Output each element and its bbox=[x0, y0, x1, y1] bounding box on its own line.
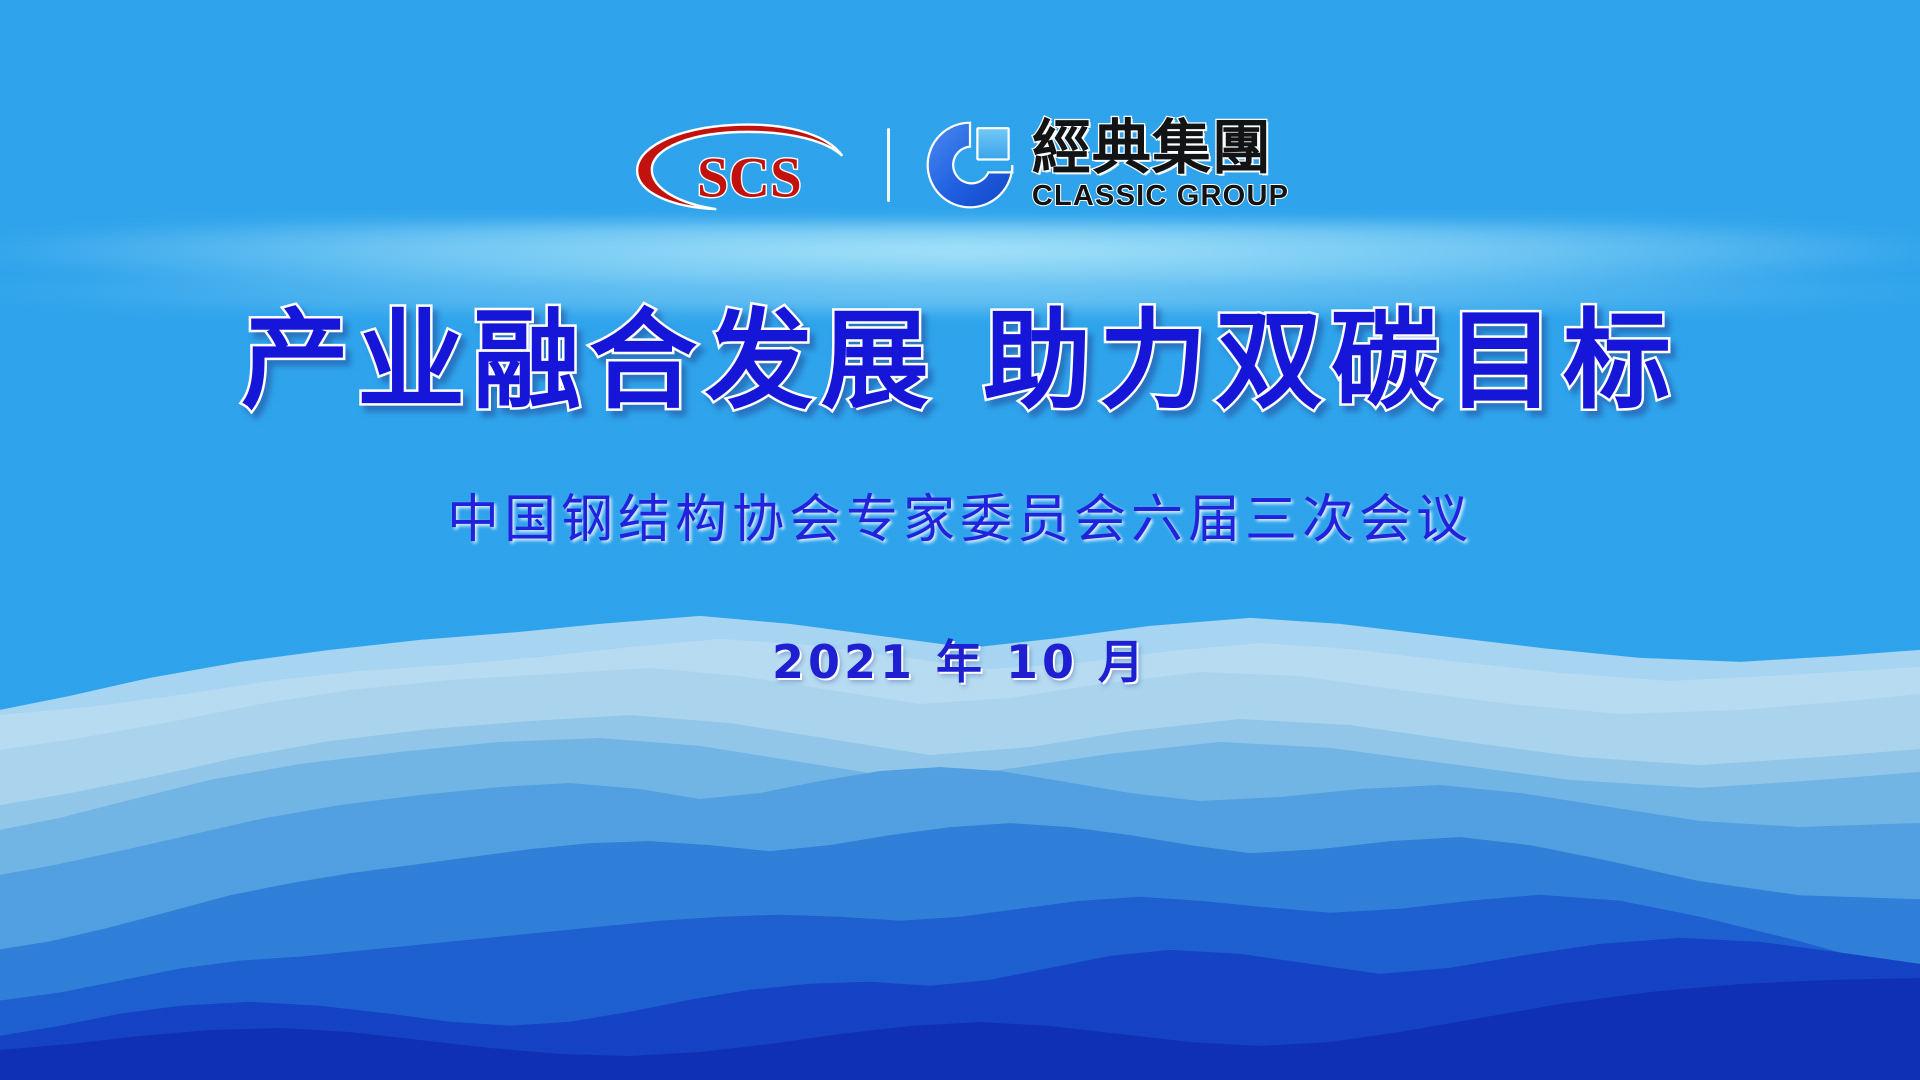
poster-canvas: SCS bbox=[0, 0, 1920, 1080]
logo-bar: SCS bbox=[0, 118, 1920, 211]
classic-group-logo: 經典集團 CLASSIC GROUP bbox=[924, 118, 1289, 211]
classic-group-wordmark: 經典集團 CLASSIC GROUP bbox=[1032, 118, 1289, 211]
logo-divider bbox=[887, 128, 890, 202]
poster-content: SCS bbox=[0, 0, 1920, 1080]
main-headline: 产业融合发展助力双碳目标 bbox=[0, 274, 1920, 430]
classic-group-english-name: CLASSIC GROUP bbox=[1032, 182, 1289, 211]
headline-part-1: 产业融合发展 bbox=[241, 299, 937, 424]
classic-group-c-mark-icon bbox=[924, 119, 1016, 211]
subtitle-line: 中国钢结构协会专家委员会六届三次会议 bbox=[0, 477, 1920, 552]
scs-logo: SCS bbox=[631, 119, 853, 211]
classic-group-chinese-name: 經典集團 bbox=[1032, 118, 1289, 177]
headline-part-2: 助力双碳目标 bbox=[983, 299, 1679, 424]
scs-wordmark-text: SCS bbox=[697, 146, 802, 209]
date-line: 2021 年 10 月 bbox=[0, 626, 1920, 692]
